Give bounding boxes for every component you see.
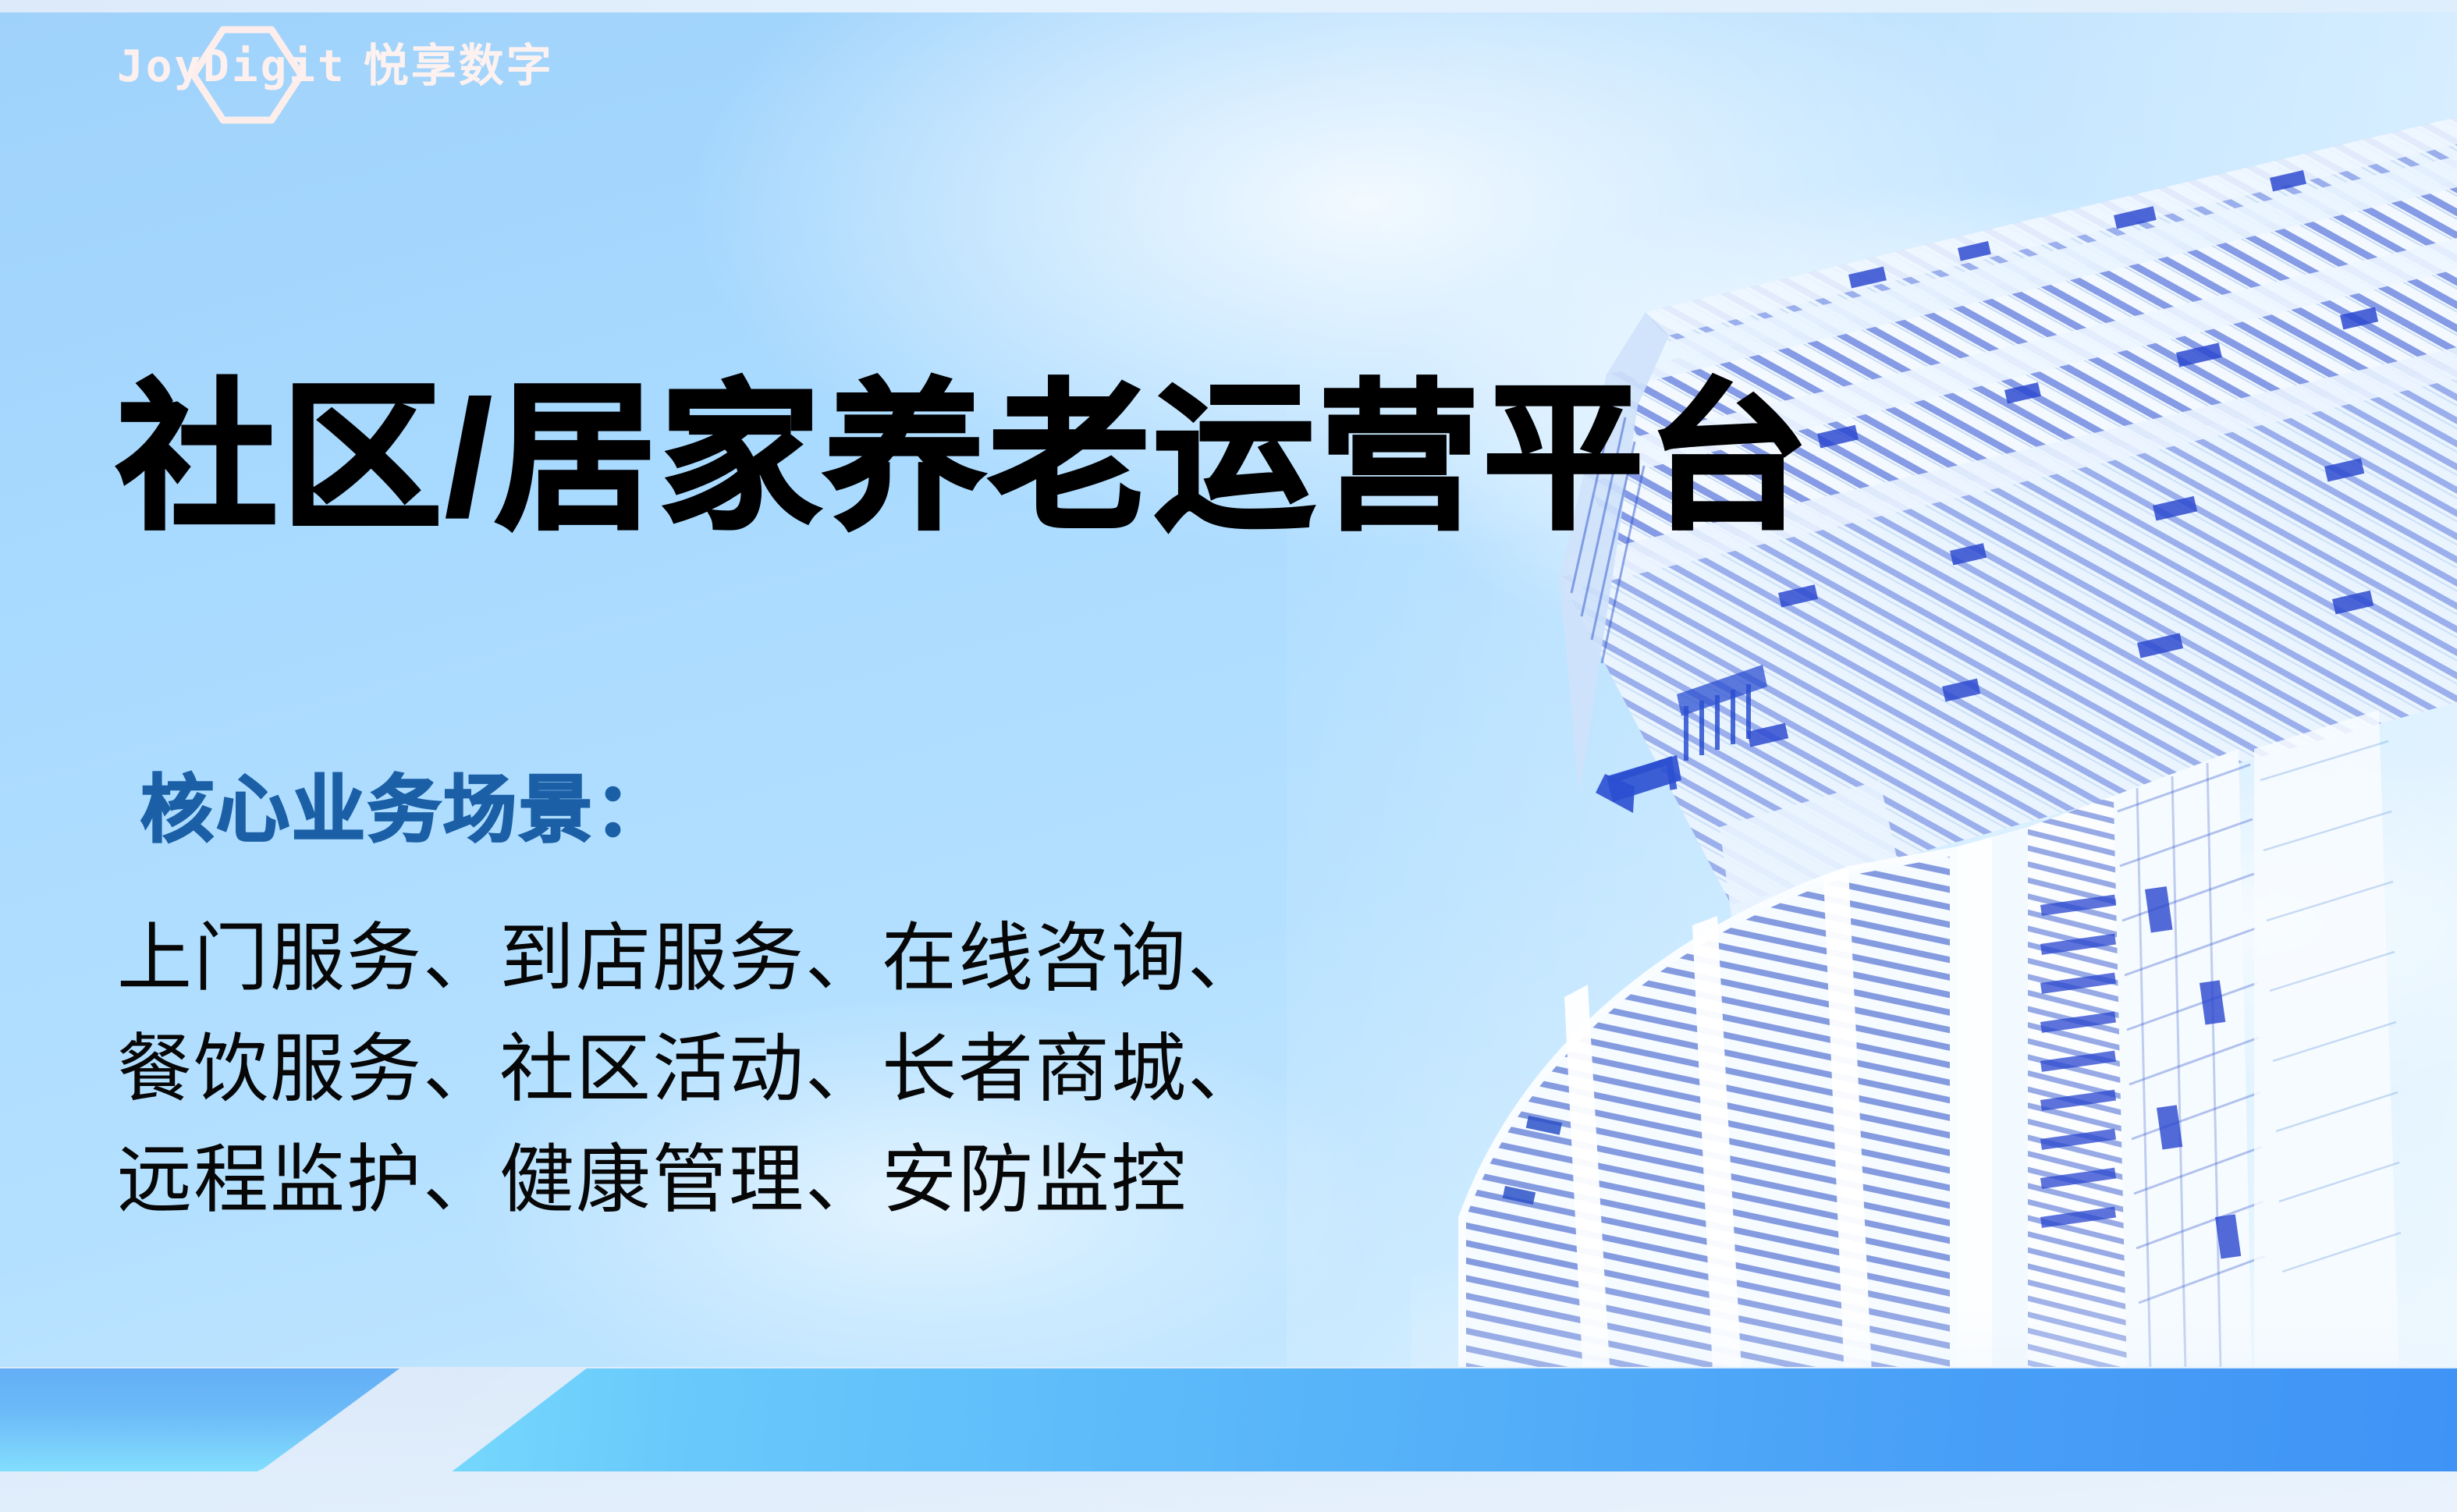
brand-logo-text: JoyDigit 悦享数字 — [117, 44, 554, 89]
bar-segment-right — [390, 1368, 2457, 1471]
scenario-list: 上门服务、到店服务、在线咨询、 餐饮服务、社区活动、长者商城、 远程监护、健康管… — [117, 903, 1264, 1236]
bottom-decorative-bar — [0, 1367, 2457, 1512]
brand-logo: JoyDigit 悦享数字 — [117, 30, 663, 123]
brand-latin-name: JoyDigit — [117, 45, 346, 89]
brand-chinese-name: 悦享数字 — [364, 44, 554, 89]
scenario-line: 餐饮服务、社区活动、长者商城、 — [117, 1014, 1264, 1125]
skyscraper-illustration — [1411, 0, 2457, 1475]
page-title: 社区/居家养老运营平台 — [117, 364, 1813, 553]
top-edge-band — [0, 0, 2457, 12]
scenario-line: 上门服务、到店服务、在线咨询、 — [117, 903, 1264, 1014]
presentation-slide: JoyDigit 悦享数字 社区/居家养老运营平台 核心业务场景： 上门服务、到… — [0, 0, 2457, 1512]
scenario-line: 远程监护、健康管理、安防监控 — [117, 1125, 1264, 1236]
section-label: 核心业务场景： — [140, 766, 670, 854]
